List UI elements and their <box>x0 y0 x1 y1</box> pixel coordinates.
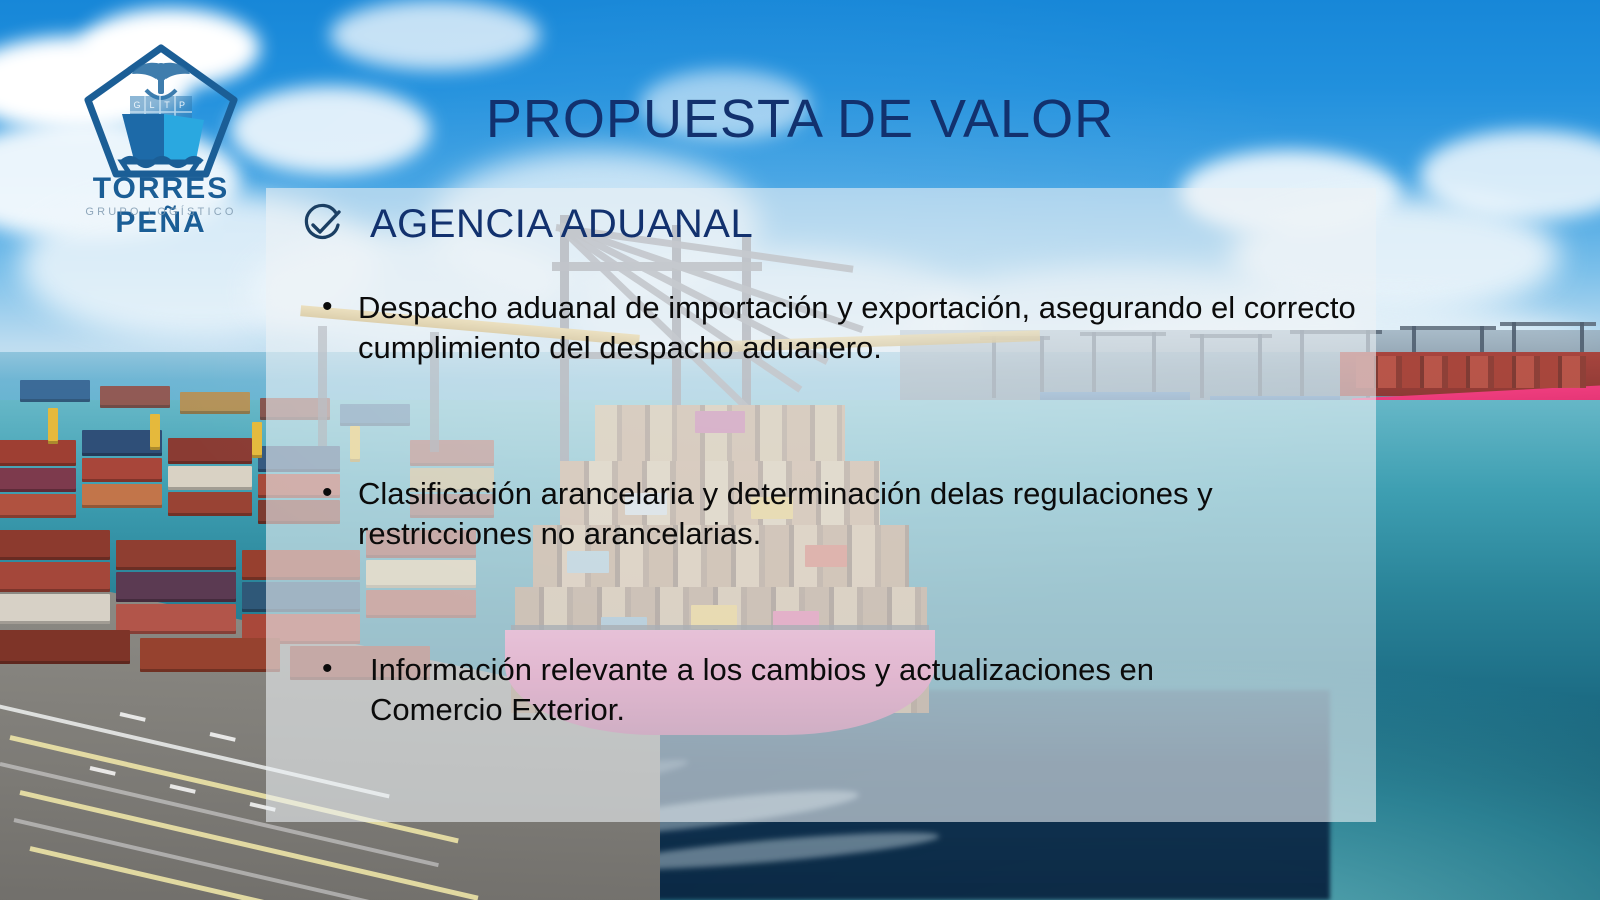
right-vessel-containers <box>1356 356 1586 388</box>
container <box>180 392 250 414</box>
list-item: • Información relevante a los cambios y … <box>322 650 1272 729</box>
bullet-marker: • <box>322 650 336 688</box>
container <box>116 604 236 634</box>
container <box>0 440 76 466</box>
content-panel: AGENCIA ADUANAL • Despacho aduanal de im… <box>266 188 1376 822</box>
container <box>0 594 110 624</box>
straddle-carrier <box>150 414 160 450</box>
container <box>0 562 110 592</box>
container <box>82 484 162 508</box>
list-item: • Despacho aduanal de importación y expo… <box>322 288 1382 367</box>
straddle-carrier <box>48 408 58 444</box>
bullet-marker: • <box>322 288 336 326</box>
section-heading-label: AGENCIA ADUANAL <box>370 202 753 247</box>
slide-root: G L T P TORRES PEÑA GRUPO LOGÍSTICO PROP… <box>0 0 1600 900</box>
logo-tagline: GRUPO LOGÍSTICO <box>58 206 264 218</box>
cloud <box>330 0 540 70</box>
container <box>168 438 252 464</box>
container <box>116 572 236 602</box>
bullet-text: Información relevante a los cambios y ac… <box>358 650 1272 729</box>
container <box>20 380 90 402</box>
bullet-marker: • <box>322 474 336 512</box>
container <box>82 458 162 482</box>
bullet-text: Despacho aduanal de importación y export… <box>358 288 1382 367</box>
container <box>168 492 252 516</box>
bullet-text: Clasificación arancelaria y determinació… <box>358 474 1222 553</box>
page-title: PROPUESTA DE VALOR <box>0 88 1600 150</box>
section-heading: AGENCIA ADUANAL <box>300 202 753 247</box>
straddle-carrier <box>252 422 262 458</box>
container <box>0 530 110 560</box>
container <box>140 638 280 672</box>
container <box>168 466 252 490</box>
check-circle-icon <box>300 203 344 247</box>
container <box>0 468 76 492</box>
list-item: • Clasificación arancelaria y determinac… <box>322 474 1222 553</box>
container <box>0 494 76 518</box>
container <box>100 386 170 408</box>
container <box>0 630 130 664</box>
container <box>116 540 236 570</box>
